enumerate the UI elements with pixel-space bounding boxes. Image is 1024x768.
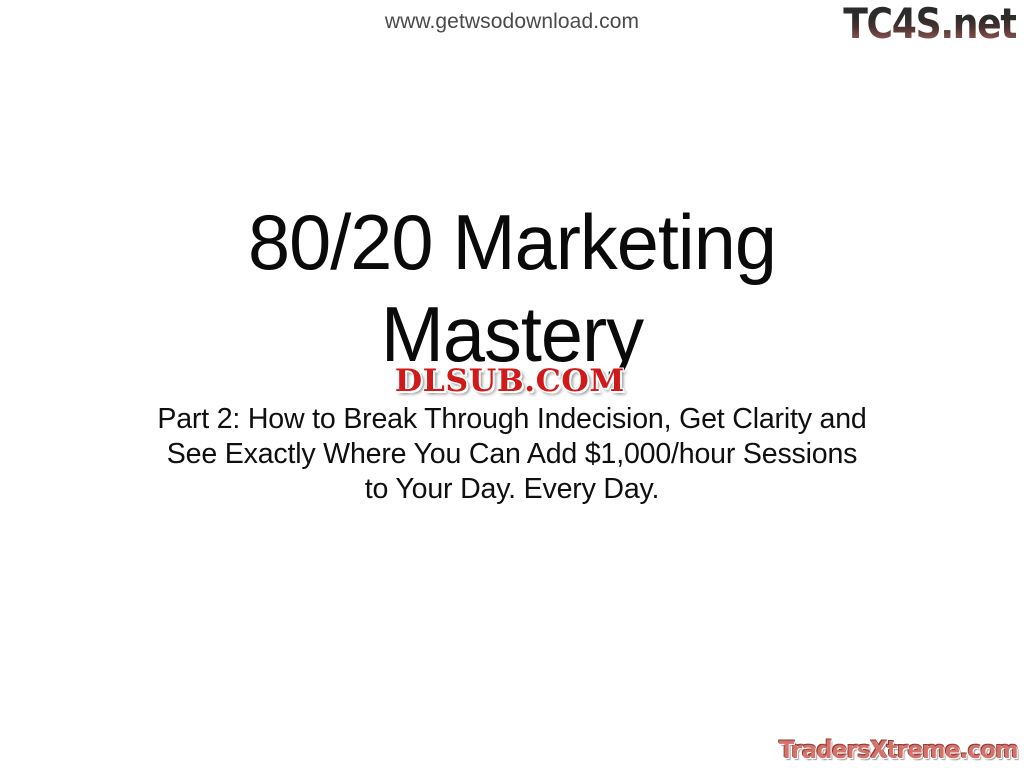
subtitle-line-3: to Your Day. Every Day.	[8, 472, 1017, 507]
tradersxtreme-watermark: TradersXtreme.com	[779, 736, 1018, 764]
slide-title: 80/20 Marketing Mastery	[0, 196, 1024, 380]
dlsub-watermark-text: DLSUB.COM	[395, 366, 625, 397]
slide-subtitle: Part 2: How to Break Through Indecision,…	[0, 402, 1024, 507]
title-line-1: 80/20 Marketing	[15, 196, 1008, 288]
subtitle-line-1: Part 2: How to Break Through Indecision,…	[8, 402, 1017, 437]
dlsub-watermark: DLSUB.COM	[366, 363, 654, 399]
subtitle-line-2: See Exactly Where You Can Add $1,000/hou…	[8, 437, 1017, 472]
tc4s-watermark-logo: TC4S.net	[843, 2, 1016, 46]
presentation-slide: www.getwsodownload.com TC4S.net 80/20 Ma…	[0, 0, 1024, 768]
